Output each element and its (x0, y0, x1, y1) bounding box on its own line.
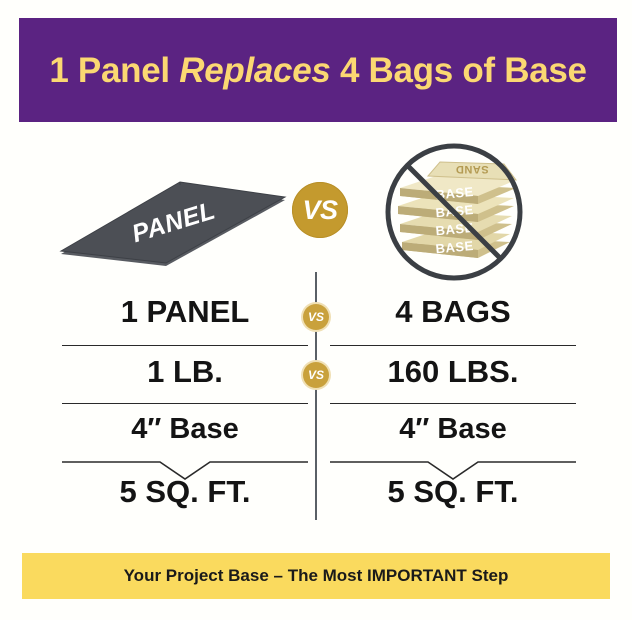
right-rule-1 (330, 345, 576, 346)
right-row-3: 4″ Base (330, 413, 576, 446)
header-banner: 1 Panel Replaces 4 Bags of Base (19, 18, 617, 122)
title-emphasis: Replaces (179, 51, 330, 90)
left-rule-1 (62, 345, 308, 346)
bag-stack-icon: BASE BASE BASE BASE SAND (378, 142, 530, 282)
right-row-4: 5 SQ. FT. (330, 474, 576, 510)
left-row-4: 5 SQ. FT. (62, 474, 308, 510)
left-row-1: 1 PANEL (62, 294, 308, 330)
footer-banner: Your Project Base – The Most IMPORTANT S… (22, 553, 610, 599)
footer-text: Your Project Base – The Most IMPORTANT S… (124, 566, 509, 586)
left-row-3: 4″ Base (62, 413, 308, 446)
right-rule-2 (330, 403, 576, 404)
vs-badge-row-2: VS (303, 362, 329, 388)
right-row-2: 160 LBS. (330, 354, 576, 390)
vs-badge-row-2-label: VS (308, 369, 324, 381)
comparison-column-right: 4 BAGS 160 LBS. 4″ Base 5 SQ. FT. (330, 288, 576, 528)
bags-illustration: BASE BASE BASE BASE SAND (378, 142, 530, 282)
panel-illustration: PANEL (58, 152, 288, 267)
title-suffix: 4 Bags of Base (331, 51, 587, 90)
page-title: 1 Panel Replaces 4 Bags of Base (49, 53, 586, 88)
vs-badge-main-label: VS (302, 197, 337, 224)
panel-board-icon: PANEL (58, 152, 288, 267)
infographic-root: 1 Panel Replaces 4 Bags of Base PANEL VS (0, 0, 632, 620)
title-prefix: 1 Panel (49, 51, 179, 90)
sand-label: SAND (455, 163, 488, 175)
left-row-2: 1 LB. (62, 354, 308, 390)
left-rule-2 (62, 403, 308, 404)
comparison-column-left: 1 PANEL 1 LB. 4″ Base 5 SQ. FT. (62, 288, 308, 528)
illustration-row: PANEL VS BASE BASE (0, 130, 632, 290)
vs-badge-main: VS (292, 182, 348, 238)
vs-badge-row-1-label: VS (308, 311, 324, 323)
vs-badge-row-1: VS (303, 304, 329, 330)
right-row-1: 4 BAGS (330, 294, 576, 330)
